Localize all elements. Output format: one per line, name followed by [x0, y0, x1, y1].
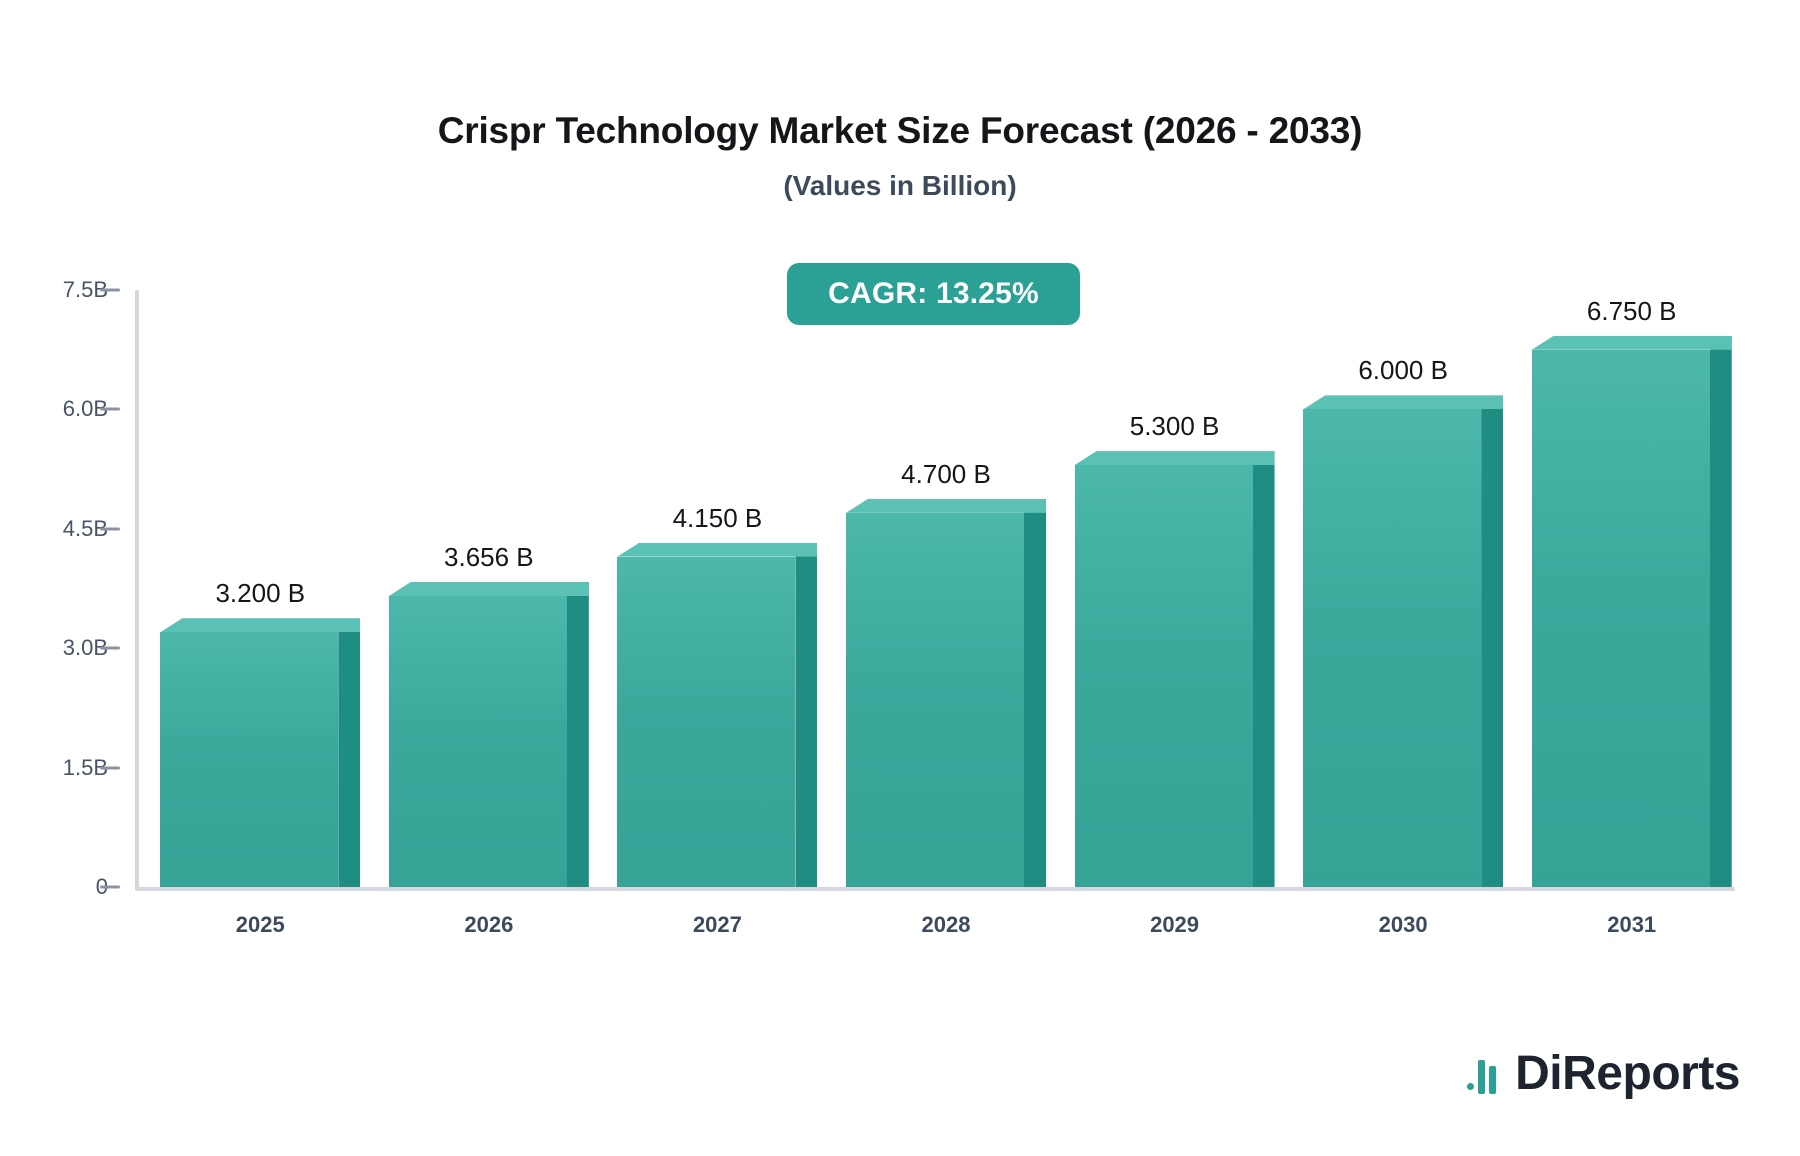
bar[interactable]: [389, 596, 567, 887]
x-tick-label: 2031: [1607, 912, 1656, 938]
y-tick-label: 6.0B: [8, 396, 108, 422]
bar-top-face: [160, 618, 360, 632]
bar[interactable]: [617, 557, 795, 887]
y-tick-mark: [100, 647, 120, 650]
x-tick-label: 2028: [922, 912, 971, 938]
y-tick-mark: [100, 289, 120, 292]
bar-value-label: 4.150 B: [673, 503, 763, 534]
bar-front-face: [1303, 409, 1481, 887]
bar-front-face: [846, 513, 1024, 887]
x-axis-line: [135, 887, 1735, 891]
bar-front-face: [389, 596, 567, 887]
bar-side-face: [1481, 395, 1503, 887]
bar[interactable]: [846, 513, 1024, 887]
bar-side-face: [1024, 499, 1046, 887]
bar[interactable]: [160, 632, 338, 887]
x-tick-label: 2029: [1150, 912, 1199, 938]
bar-side-face: [1253, 451, 1275, 887]
bar-top-face: [617, 543, 817, 557]
plot-area: 3.200 B3.656 B4.150 B4.700 B5.300 B6.000…: [135, 290, 1735, 890]
x-tick-label: 2030: [1379, 912, 1428, 938]
y-tick-mark: [100, 527, 120, 530]
y-tick-label: 4.5B: [8, 516, 108, 542]
bar-top-face: [1075, 451, 1275, 465]
logo-text: DiReports: [1515, 1050, 1740, 1098]
bar-value-label: 6.750 B: [1587, 296, 1677, 327]
bar-side-face: [338, 618, 360, 887]
bar-value-label: 3.656 B: [444, 542, 534, 573]
bar[interactable]: [1532, 350, 1710, 887]
bar-value-label: 5.300 B: [1130, 411, 1220, 442]
bar-front-face: [1075, 465, 1253, 887]
chart-subtitle: (Values in Billion): [0, 170, 1800, 202]
x-tick-label: 2026: [464, 912, 513, 938]
y-tick-label: 3.0B: [8, 635, 108, 661]
bar[interactable]: [1303, 409, 1481, 887]
y-tick-label: 7.5B: [8, 277, 108, 303]
x-tick-label: 2025: [236, 912, 285, 938]
bar-front-face: [160, 632, 338, 887]
bar-value-label: 3.200 B: [215, 578, 305, 609]
bar-value-label: 4.700 B: [901, 459, 991, 490]
bar-side-face: [795, 543, 817, 887]
bar-top-face: [389, 582, 589, 596]
bar-front-face: [1532, 350, 1710, 887]
bar-value-label: 6.000 B: [1358, 355, 1448, 386]
bar-top-face: [1532, 336, 1732, 350]
y-tick-label: 0: [8, 874, 108, 900]
bar-top-face: [1303, 395, 1503, 409]
y-tick-label: 1.5B: [8, 755, 108, 781]
chart-page: Crispr Technology Market Size Forecast (…: [0, 0, 1800, 1156]
bar[interactable]: [1075, 465, 1253, 887]
bar-top-face: [846, 499, 1046, 513]
y-tick-mark: [100, 408, 120, 411]
direports-logo: DiReports: [1467, 1050, 1740, 1098]
bar-side-face: [1710, 336, 1732, 887]
bar-side-face: [567, 582, 589, 887]
bar-front-face: [617, 557, 795, 887]
y-tick-mark: [100, 886, 120, 889]
chart-title: Crispr Technology Market Size Forecast (…: [0, 110, 1800, 152]
y-axis-line: [135, 290, 139, 890]
bar-chart-icon: [1467, 1054, 1507, 1094]
x-tick-label: 2027: [693, 912, 742, 938]
y-tick-mark: [100, 766, 120, 769]
